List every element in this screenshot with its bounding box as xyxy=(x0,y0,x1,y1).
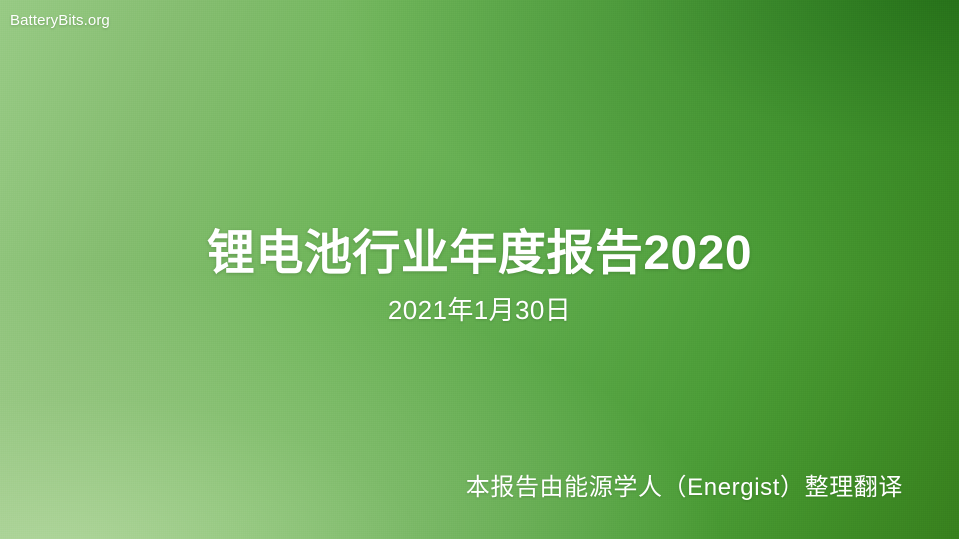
footer-credit: 本报告由能源学人（Energist）整理翻译 xyxy=(466,473,903,503)
slide-date-subtitle: 2021年1月30日 xyxy=(0,295,959,325)
title-slide: BatteryBits.org 锂电池行业年度报告2020 2021年1月30日… xyxy=(0,0,959,539)
page-title: 锂电池行业年度报告2020 xyxy=(0,225,959,283)
watermark-batterybits: BatteryBits.org xyxy=(10,11,110,30)
title-block: 锂电池行业年度报告2020 2021年1月30日 xyxy=(0,225,959,325)
